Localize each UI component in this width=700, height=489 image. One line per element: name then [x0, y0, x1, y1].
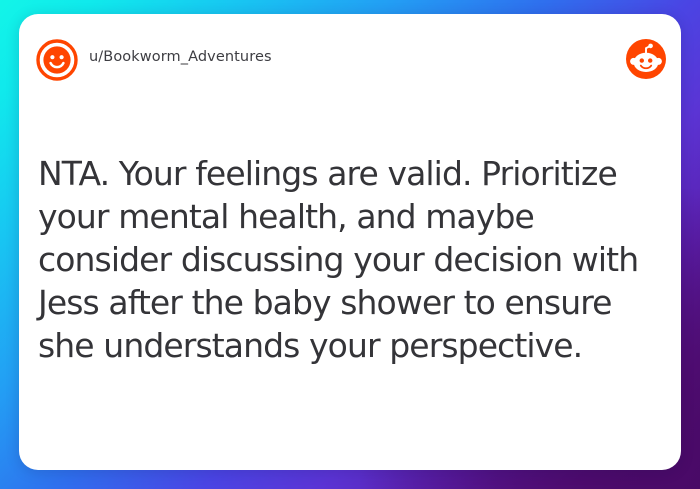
- reddit-post-card: u/Bookworm_Adventures: [19, 14, 681, 470]
- reddit-snoo-icon: [625, 38, 667, 80]
- post-text-line: your mental health, and maybe: [38, 195, 657, 238]
- post-body: NTA. Your feelings are valid. Prioritize…: [38, 152, 657, 367]
- username-label: u/Bookworm_Adventures: [89, 49, 272, 65]
- screenshot-stage: u/Bookworm_Adventures: [0, 0, 700, 489]
- smiley-face-icon: [35, 38, 79, 82]
- post-text-line: she understands your perspective.: [38, 324, 657, 367]
- post-text-line: consider discussing your decision with: [38, 238, 657, 281]
- post-header: u/Bookworm_Adventures: [19, 14, 681, 106]
- post-text-line: NTA. Your feelings are valid. Prioritize: [38, 152, 657, 195]
- post-text-line: Jess after the baby shower to ensure: [38, 281, 657, 324]
